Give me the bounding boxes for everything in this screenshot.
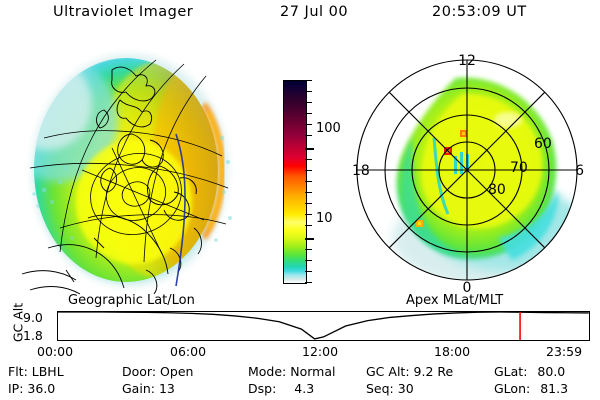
status-gcalt-value: 9.2 Re bbox=[414, 364, 454, 379]
header-date: 27 Jul 00 bbox=[280, 4, 348, 20]
status-seq: Seq: 30 bbox=[366, 381, 414, 396]
status-bar: Flt: LBHL IP: 36.0 Door: Open Gain: 13 M… bbox=[0, 364, 600, 400]
apex-polar-image: 12 18 6 0 60 70 80 bbox=[338, 42, 596, 297]
status-flt-value: LBHL bbox=[32, 364, 64, 379]
left-panel-caption: Geographic Lat/Lon bbox=[68, 293, 195, 308]
alt-plot-ymin-label: 1.8 bbox=[23, 328, 43, 343]
status-ip: IP: 36.0 bbox=[8, 381, 55, 396]
time-axis: 00:00 06:00 12:00 18:00 23:59 bbox=[0, 344, 600, 360]
status-dsp: Dsp: 4.3 bbox=[248, 381, 314, 396]
page-title: Ultraviolet Imager bbox=[53, 4, 193, 20]
geographic-globe-panel bbox=[8, 42, 258, 297]
alt-plot-ymax-label: 9.0 bbox=[23, 310, 43, 325]
status-flt-key: Flt: bbox=[8, 364, 28, 379]
colorbar-label-10: 10 bbox=[316, 211, 333, 226]
colorbar: photon cm-2s-1 100 10 bbox=[258, 60, 336, 300]
status-door-key: Door: bbox=[122, 364, 156, 379]
colorbar-ticks bbox=[305, 80, 314, 284]
time-tick-0600: 06:00 bbox=[170, 344, 206, 359]
polar-mlt-label-18: 18 bbox=[352, 163, 370, 179]
status-glon: GLon: 81.3 bbox=[494, 381, 568, 396]
time-tick-0000: 00:00 bbox=[37, 344, 73, 359]
uv-imager-display: Ultraviolet Imager 27 Jul 00 20:53:09 UT bbox=[0, 0, 600, 400]
status-dsp-key: Dsp: bbox=[248, 381, 276, 396]
status-glat: GLat: 80.0 bbox=[494, 364, 565, 379]
status-flt: Flt: LBHL bbox=[8, 364, 64, 379]
time-tick-2359: 23:59 bbox=[546, 344, 582, 359]
status-glat-key: GLat: bbox=[494, 364, 527, 379]
status-gain-key: Gain: bbox=[122, 381, 155, 396]
status-gain-value: 13 bbox=[159, 381, 175, 396]
header: Ultraviolet Imager 27 Jul 00 20:53:09 UT bbox=[0, 4, 600, 28]
polar-mlat-label-60: 60 bbox=[534, 136, 552, 152]
time-tick-1200: 12:00 bbox=[302, 344, 338, 359]
geographic-globe-image bbox=[8, 42, 258, 297]
status-gcalt-key: GC Alt: bbox=[366, 364, 410, 379]
gc-alt-trace bbox=[58, 312, 589, 340]
right-panel-caption: Apex MLat/MLT bbox=[406, 293, 503, 308]
status-dsp-value: 4.3 bbox=[294, 381, 314, 396]
status-glon-key: GLon: bbox=[494, 381, 530, 396]
status-door-value: Open bbox=[160, 364, 193, 379]
polar-mlat-label-70: 70 bbox=[510, 160, 528, 176]
gc-alt-plot[interactable] bbox=[57, 311, 590, 341]
status-ip-key: IP: bbox=[8, 381, 23, 396]
status-seq-key: Seq: bbox=[366, 381, 394, 396]
status-glon-value: 81.3 bbox=[540, 381, 568, 396]
gc-alt-curve bbox=[58, 312, 589, 339]
colorbar-gradient bbox=[283, 80, 307, 284]
polar-mlt-label-12: 12 bbox=[458, 53, 476, 69]
status-door: Door: Open bbox=[122, 364, 193, 379]
header-time: 20:53:09 UT bbox=[432, 4, 527, 20]
time-tick-1800: 18:00 bbox=[434, 344, 470, 359]
apex-polar-panel: 12 18 6 0 60 70 80 bbox=[338, 42, 596, 297]
status-mode-value: Normal bbox=[290, 364, 335, 379]
status-gain: Gain: 13 bbox=[122, 381, 175, 396]
status-mode: Mode: Normal bbox=[248, 364, 336, 379]
status-mode-key: Mode: bbox=[248, 364, 286, 379]
status-ip-value: 36.0 bbox=[27, 381, 55, 396]
status-gcalt: GC Alt: 9.2 Re bbox=[366, 364, 453, 379]
status-seq-value: 30 bbox=[398, 381, 414, 396]
polar-mlat-label-80: 80 bbox=[488, 182, 506, 198]
polar-mlt-label-6: 6 bbox=[575, 163, 584, 179]
status-glat-value: 80.0 bbox=[537, 364, 565, 379]
